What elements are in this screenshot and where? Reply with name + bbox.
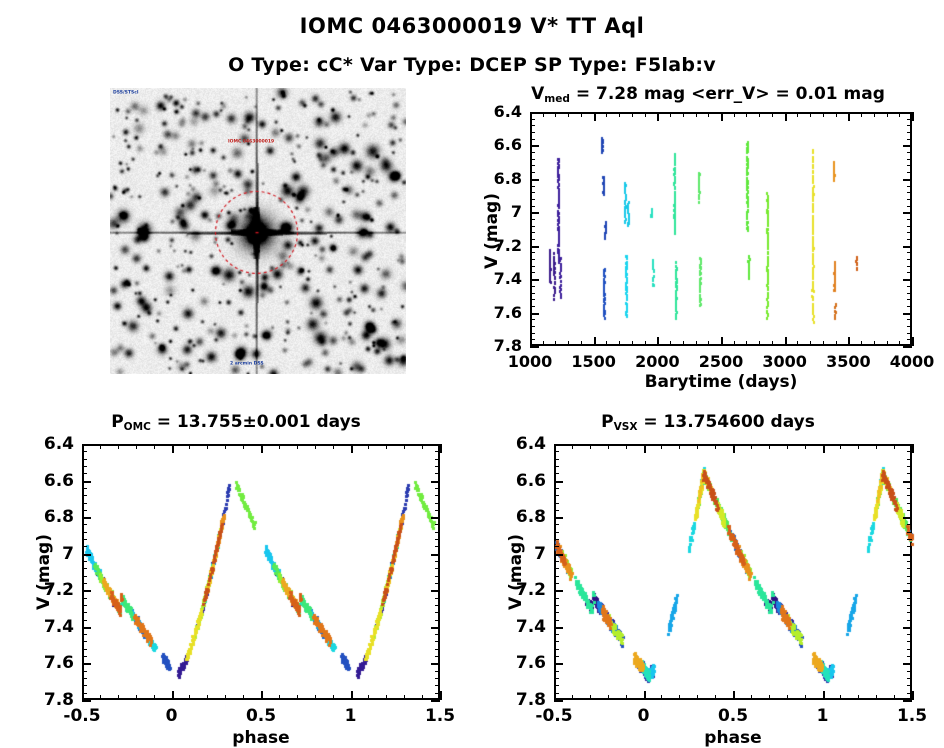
lightcurve-x-axis-label: Barytime (days) [530, 372, 912, 392]
y-tick-label: 6.6 [494, 471, 546, 491]
x-tick-label: 1 [311, 706, 391, 726]
phase-omc-x-axis-label: phase [82, 728, 440, 748]
y-tick-label: 6.4 [470, 102, 522, 121]
phase-vsx-panel: PVSX = 13.754600 days V (mag) phase 6.46… [472, 412, 944, 747]
x-tick-label: 0.5 [693, 706, 773, 726]
y-tick-label: 6.8 [470, 169, 522, 188]
finding-chart-panel: DSS/STScI IOMC 0463000019 2 arcmin DSS [110, 88, 406, 374]
phase-omc-panel: POMC = 13.755±0.001 days V (mag) phase 6… [0, 412, 472, 747]
page-title: IOMC 0463000019 V* TT Aql [0, 14, 944, 38]
y-tick-label: 7 [470, 202, 522, 221]
y-tick-label: 7.4 [470, 269, 522, 288]
y-tick-label: 7 [494, 544, 546, 564]
phase-vsx-x-axis-label: phase [554, 728, 912, 748]
object-classification-line: O Type: cC* Var Type: DCEP SP Type: F5la… [0, 54, 944, 76]
x-tick-label: -0.5 [42, 706, 122, 726]
finding-chart-label-target: IOMC 0463000019 [228, 139, 274, 144]
x-tick-label: 0.5 [221, 706, 301, 726]
y-tick-label: 6.6 [22, 471, 74, 491]
y-tick-label: 7.4 [22, 617, 74, 637]
y-tick-label: 7.6 [494, 653, 546, 673]
x-tick-label: 1 [783, 706, 863, 726]
y-tick-label: 7.2 [494, 580, 546, 600]
y-tick-label: 6.6 [470, 135, 522, 154]
lightcurve-panel: Vmed = 7.28 mag <err_V> = 0.01 mag V (ma… [472, 84, 944, 404]
y-tick-label: 7.4 [494, 617, 546, 637]
y-tick-label: 7.2 [470, 236, 522, 255]
x-tick-label: 4000 [872, 352, 944, 371]
x-tick-label: -0.5 [514, 706, 594, 726]
y-tick-label: 7.6 [470, 303, 522, 322]
y-tick-label: 7.6 [22, 653, 74, 673]
finding-chart-label-bottom: 2 arcmin DSS [230, 361, 264, 366]
x-tick-label: 0 [132, 706, 212, 726]
x-tick-label: 1.5 [872, 706, 944, 726]
y-tick-label: 6.4 [22, 434, 74, 454]
y-tick-label: 6.8 [22, 507, 74, 527]
y-tick-label: 6.4 [494, 434, 546, 454]
x-tick-label: 0 [604, 706, 684, 726]
y-tick-label: 7 [22, 544, 74, 564]
x-tick-label: 1.5 [400, 706, 480, 726]
y-tick-label: 6.8 [494, 507, 546, 527]
finding-chart-image: DSS/STScI IOMC 0463000019 2 arcmin DSS [110, 88, 406, 374]
finding-chart-label-topleft: DSS/STScI [113, 90, 139, 95]
y-tick-label: 7.2 [22, 580, 74, 600]
